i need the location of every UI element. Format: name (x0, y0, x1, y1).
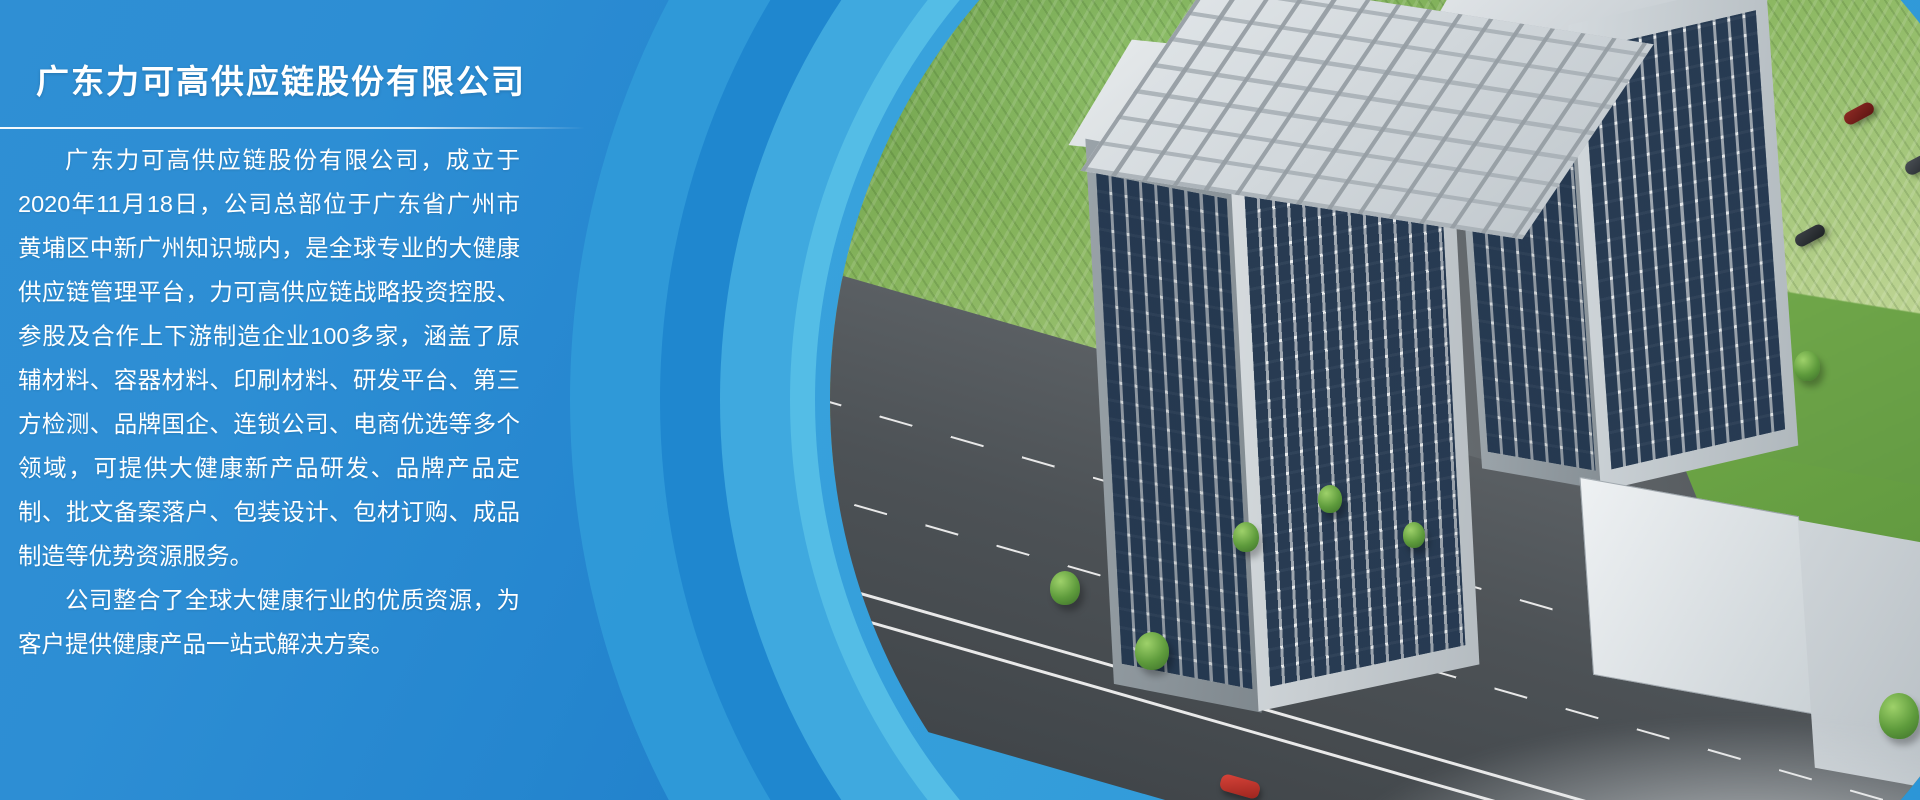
intro-paragraph-2: 公司整合了全球大健康行业的优质资源，为客户提供健康产品一站式解决方案。 (18, 578, 520, 666)
window-grid-1a (1096, 173, 1252, 689)
title-divider (0, 127, 585, 129)
tree (1135, 632, 1169, 670)
intro-body: 广东力可高供应链股份有限公司，成立于2020年11月18日，公司总部位于广东省广… (18, 138, 520, 666)
intro-paragraph-1: 广东力可高供应链股份有限公司，成立于2020年11月18日，公司总部位于广东省广… (18, 138, 520, 578)
intro-text-panel: 广东力可高供应链股份有限公司 广东力可高供应链股份有限公司，成立于2020年11… (0, 0, 620, 800)
foreground-haze (1318, 717, 1920, 800)
tree (1794, 351, 1820, 381)
tree (1879, 693, 1919, 739)
tree (1403, 522, 1425, 548)
warehouse-shed (1580, 476, 1813, 713)
tree (1050, 571, 1080, 605)
park-photo-disc (830, 0, 1920, 800)
tree (1318, 485, 1342, 513)
page-title: 广东力可高供应链股份有限公司 (36, 55, 526, 103)
park-aerial-photo (830, 0, 1920, 800)
tree (1233, 522, 1259, 552)
banner-stage: 广东力可高供应链股份有限公司 广东力可高供应链股份有限公司，成立于2020年11… (0, 0, 1920, 800)
